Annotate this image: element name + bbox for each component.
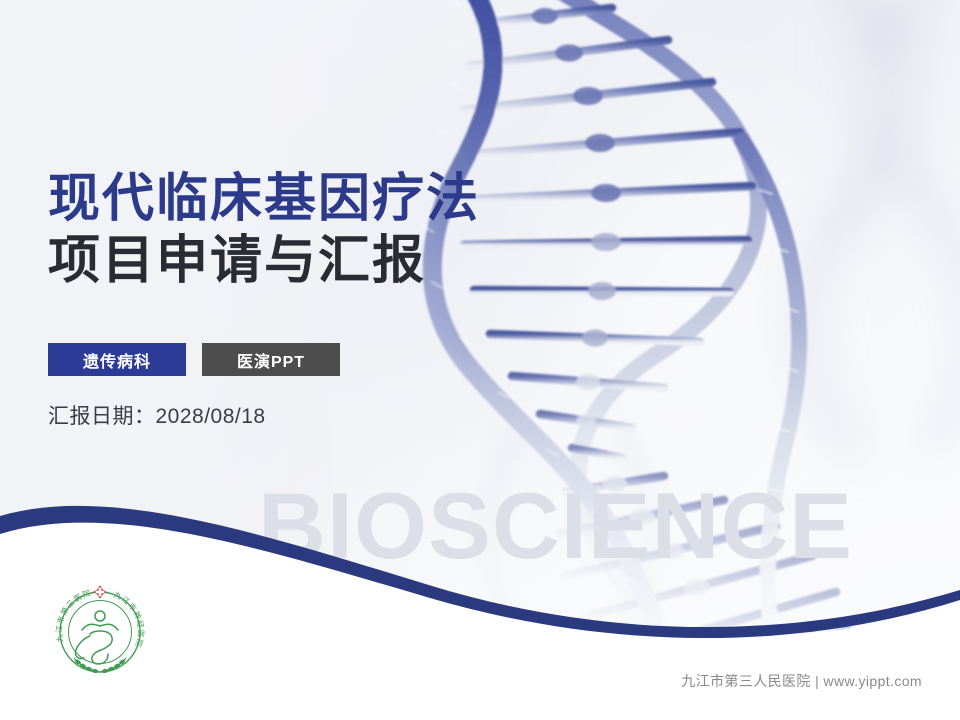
red-cross-icon: [93, 585, 107, 599]
presentation-slide: BIOSCIENCE 现代临床基因疗法 项目申请与汇报 遗传病科 医演PPT 汇…: [0, 0, 960, 720]
hospital-logo-mark: 九江市第三医院 九江市神经医院: [44, 574, 156, 686]
slide-title: 现代临床基因疗法 项目申请与汇报: [48, 168, 480, 293]
title-line-secondary: 项目申请与汇报: [48, 230, 480, 292]
badge-department[interactable]: 遗传病科: [48, 343, 186, 376]
title-line-primary: 现代临床基因疗法: [48, 168, 480, 230]
badge-row: 遗传病科 医演PPT: [48, 343, 340, 376]
logo-laurel: [74, 658, 126, 673]
badge-template[interactable]: 医演PPT: [202, 343, 340, 376]
report-date: 汇报日期：2028/08/18: [48, 400, 266, 430]
footer-credit: 九江市第三人民医院 | www.yippt.com: [681, 671, 922, 691]
logo-figure: [75, 611, 118, 664]
hospital-logo: 九江市第三医院 九江市神经医院: [44, 574, 156, 686]
